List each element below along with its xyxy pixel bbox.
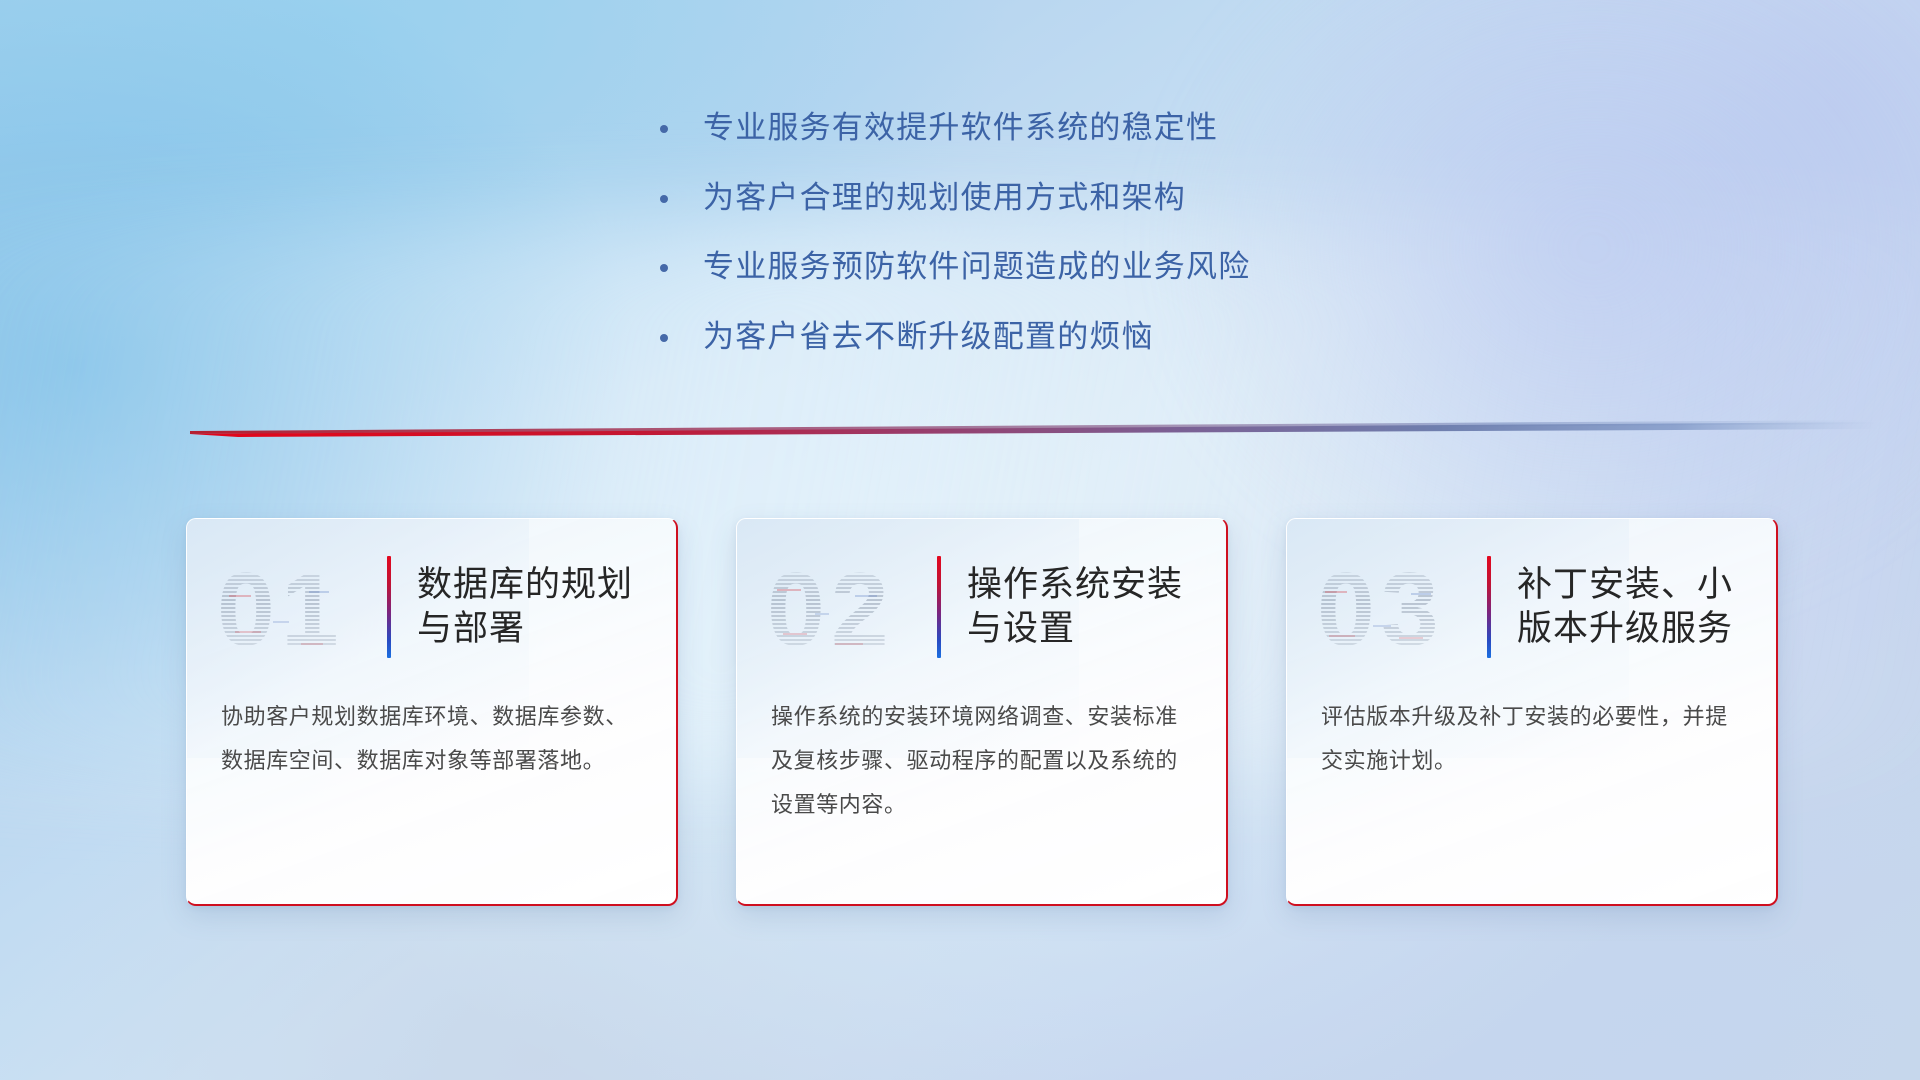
bullet-item: 专业服务预防软件问题造成的业务风险 [660,247,1250,287]
bullet-dot-icon [660,334,668,342]
bullet-text: 专业服务有效提升软件系统的稳定性 [703,108,1218,148]
feature-card[interactable]: 03 补丁安装、小 版本升级服务 评估版本升级及补丁安装的必要性，并提交 [1286,518,1778,906]
bullet-text: 为客户合理的规划使用方式和架构 [703,178,1186,218]
card-description: 协助客户规划数据库环境、数据库参数、数据库空间、数据库对象等部署落地。 [187,669,676,783]
card-description: 操作系统的安装环境网络调查、安装标准及复核步骤、驱动程序的配置以及系统的设置等内… [737,669,1226,827]
slide-canvas: 专业服务有效提升软件系统的稳定性 为客户合理的规划使用方式和架构 专业服务预防软… [0,0,1920,1080]
bullet-dot-icon [660,125,668,133]
card-accent-bar [387,556,391,658]
bullet-dot-icon [660,195,668,203]
card-title: 补丁安装、小 版本升级服务 [1517,563,1733,651]
card-accent-bar [937,556,941,658]
svg-text:02: 02 [767,552,895,663]
bullet-text: 专业服务预防软件问题造成的业务风险 [703,247,1250,287]
card-title: 操作系统安装 与设置 [967,563,1183,651]
bullet-item: 为客户省去不断升级配置的烦恼 [660,317,1250,357]
bullet-text: 为客户省去不断升级配置的烦恼 [703,317,1154,357]
card-number-03-icon: 03 [1313,551,1473,663]
card-description: 评估版本升级及补丁安装的必要性，并提交实施计划。 [1287,669,1776,783]
feature-card[interactable]: 02 操作系统安装 与设置 操作系统的安装环境网络调查、安装标准及复核步 [736,518,1228,906]
card-accent-bar [1487,556,1491,658]
bullet-list: 专业服务有效提升软件系统的稳定性 为客户合理的规划使用方式和架构 专业服务预防软… [660,108,1250,387]
feature-card-row: 01 数据库的规划 与部署 协助客户规划数据库环境、数据库参数、数据库空 [186,518,1778,906]
card-header: 03 补丁安装、小 版本升级服务 [1287,519,1776,669]
feature-card[interactable]: 01 数据库的规划 与部署 协助客户规划数据库环境、数据库参数、数据库空 [186,518,678,906]
bullet-dot-icon [660,264,668,272]
svg-text:03: 03 [1317,552,1445,663]
bullet-item: 为客户合理的规划使用方式和架构 [660,178,1250,218]
svg-text:01: 01 [217,552,345,663]
bullet-item: 专业服务有效提升软件系统的稳定性 [660,108,1250,148]
section-divider [178,418,1878,440]
card-number-02-icon: 02 [763,551,923,663]
card-title: 数据库的规划 与部署 [417,563,633,651]
card-number-01-icon: 01 [213,551,373,663]
card-header: 01 数据库的规划 与部署 [187,519,676,669]
card-header: 02 操作系统安装 与设置 [737,519,1226,669]
